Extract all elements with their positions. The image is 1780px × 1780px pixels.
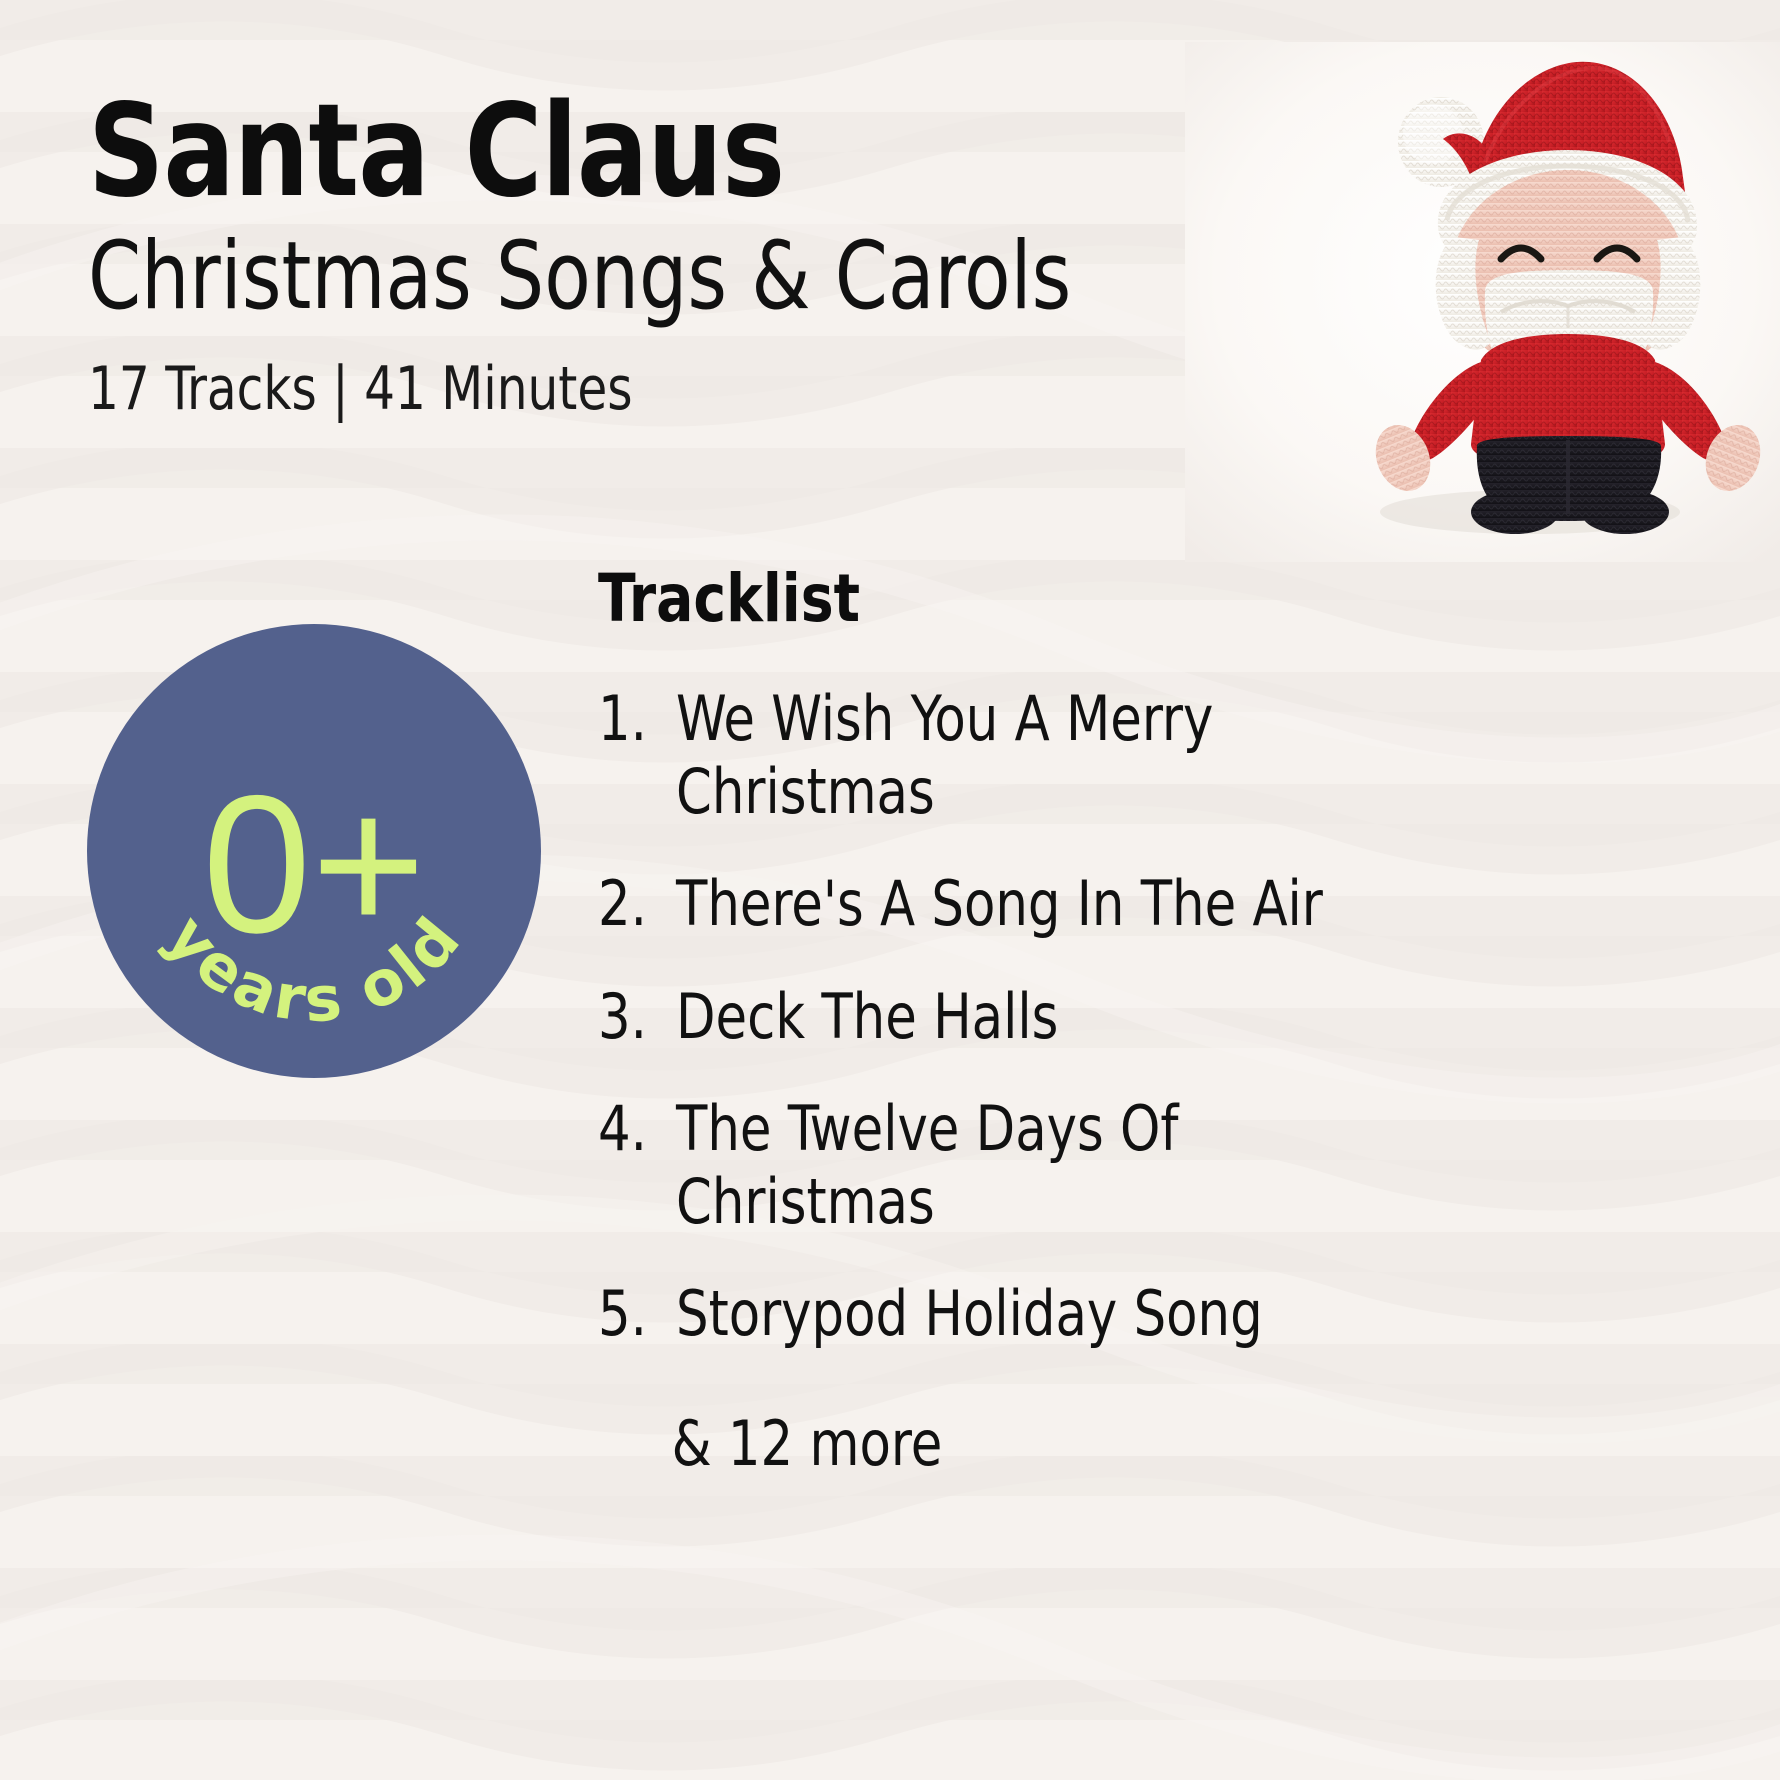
track-number: 5.: [598, 1278, 670, 1351]
track-title: Storypod Holiday Song: [676, 1278, 1403, 1351]
tracklist: 1. We Wish You A Merry Christmas 2. Ther…: [598, 683, 1598, 1351]
track-title: There's A Song In The Air: [676, 868, 1403, 941]
age-badge: 0+ years old: [85, 622, 543, 1080]
list-item: 4. The Twelve Days Of Christmas: [598, 1093, 1598, 1238]
track-title: Deck The Halls: [676, 981, 1403, 1054]
list-item: 1. We Wish You A Merry Christmas: [598, 683, 1598, 828]
more-tracks-label: & 12 more: [598, 1407, 1518, 1480]
list-item: 2. There's A Song In The Air: [598, 868, 1598, 941]
album-meta: 17 Tracks | 41 Minutes: [88, 355, 1150, 424]
page-subtitle: Christmas Songs & Carols: [88, 224, 1150, 329]
track-number: 2.: [598, 868, 670, 941]
page-title: Santa Claus: [88, 88, 1174, 216]
tracklist-heading: Tracklist: [598, 560, 1528, 637]
tracklist-section: Tracklist 1. We Wish You A Merry Christm…: [598, 560, 1598, 1480]
album-header: Santa Claus Christmas Songs & Carols 17 …: [88, 88, 1268, 424]
list-item: 5. Storypod Holiday Song: [598, 1278, 1598, 1351]
track-number: 4.: [598, 1093, 670, 1166]
track-title: We Wish You A Merry Christmas: [676, 683, 1403, 828]
track-number: 3.: [598, 981, 670, 1054]
list-item: 3. Deck The Halls: [598, 981, 1598, 1054]
track-number: 1.: [598, 683, 670, 756]
track-title: The Twelve Days Of Christmas: [676, 1093, 1403, 1238]
